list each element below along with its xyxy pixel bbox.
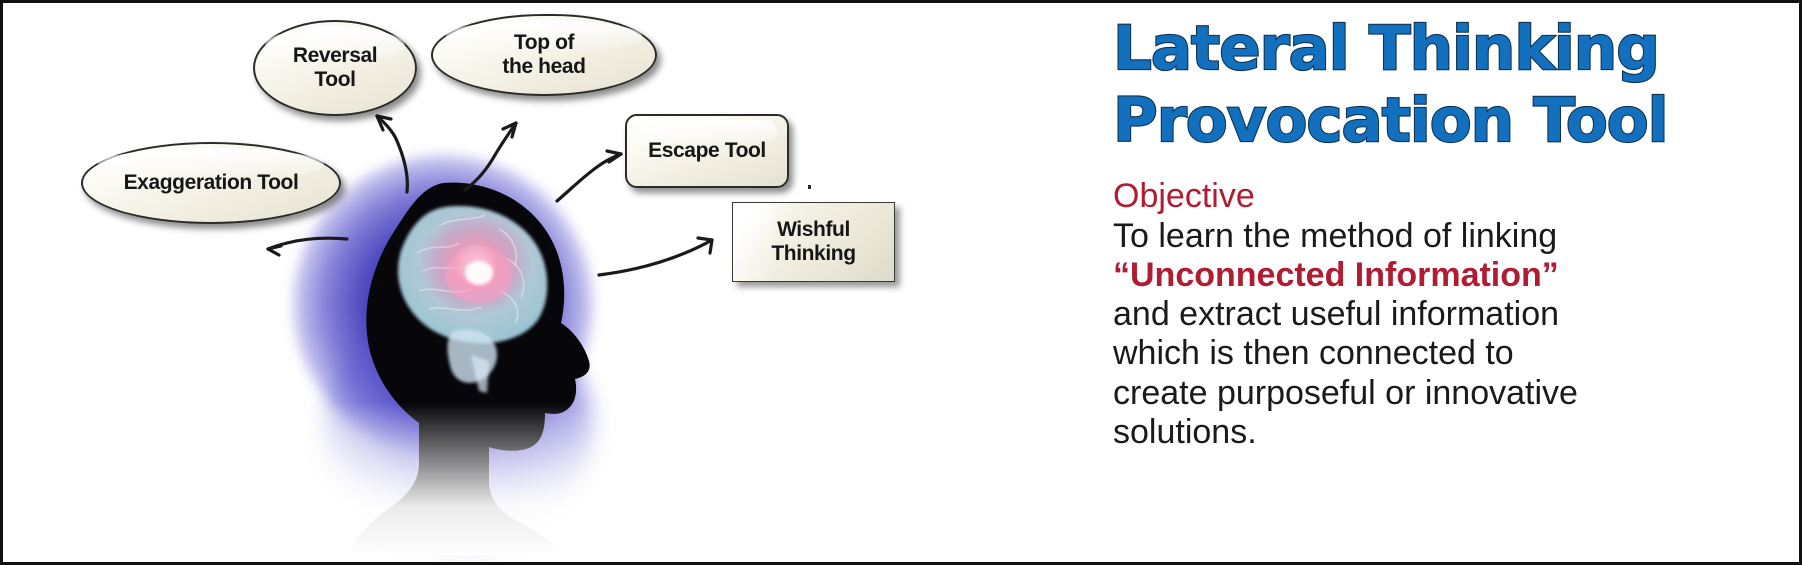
callout-escape-tool-label: Escape Tool — [648, 139, 766, 163]
page-title-line-1: Lateral Thinking — [1113, 13, 1773, 85]
callout-wishful-thinking-label: WishfulThinking — [771, 218, 855, 265]
callout-top-of-the-head[interactable]: Top ofthe head — [431, 14, 657, 96]
head-silhouette-icon — [293, 155, 623, 555]
callout-top-of-the-head-label: Top ofthe head — [502, 31, 585, 78]
page-title-line-2: Provocation Tool — [1113, 85, 1773, 157]
objective-body: To learn the method of linking “Unconnec… — [1113, 217, 1773, 453]
objective-body-line-5: solutions. — [1113, 413, 1773, 452]
callout-wishful-thinking[interactable]: WishfulThinking — [732, 202, 895, 282]
objective-body-line-4: create purposeful or innovative — [1113, 374, 1773, 413]
objective-body-highlight: “Unconnected Information” — [1113, 256, 1773, 295]
objective-body-line-1: To learn the method of linking — [1113, 217, 1773, 256]
callout-reversal-tool[interactable]: ReversalTool — [253, 20, 417, 116]
objective-body-line-2: and extract useful information — [1113, 295, 1773, 334]
callout-exaggeration-tool-label: Exaggeration Tool — [124, 171, 299, 195]
head-brain-figure — [293, 155, 623, 555]
callout-escape-tool[interactable]: Escape Tool — [625, 114, 789, 188]
callout-exaggeration-tool[interactable]: Exaggeration Tool — [81, 142, 341, 224]
diagram-panel: ReversalTool Top ofthe head Exaggeration… — [3, 3, 1078, 562]
stray-dot-mark — [808, 185, 811, 189]
objective-body-line-3: which is then connected to — [1113, 334, 1773, 373]
page-title: Lateral Thinking Provocation Tool — [1113, 13, 1773, 157]
slide-canvas: ReversalTool Top ofthe head Exaggeration… — [0, 0, 1802, 565]
callout-reversal-tool-label: ReversalTool — [293, 44, 377, 91]
text-panel: Lateral Thinking Provocation Tool Object… — [1113, 13, 1773, 553]
objective-heading: Objective — [1113, 179, 1773, 215]
